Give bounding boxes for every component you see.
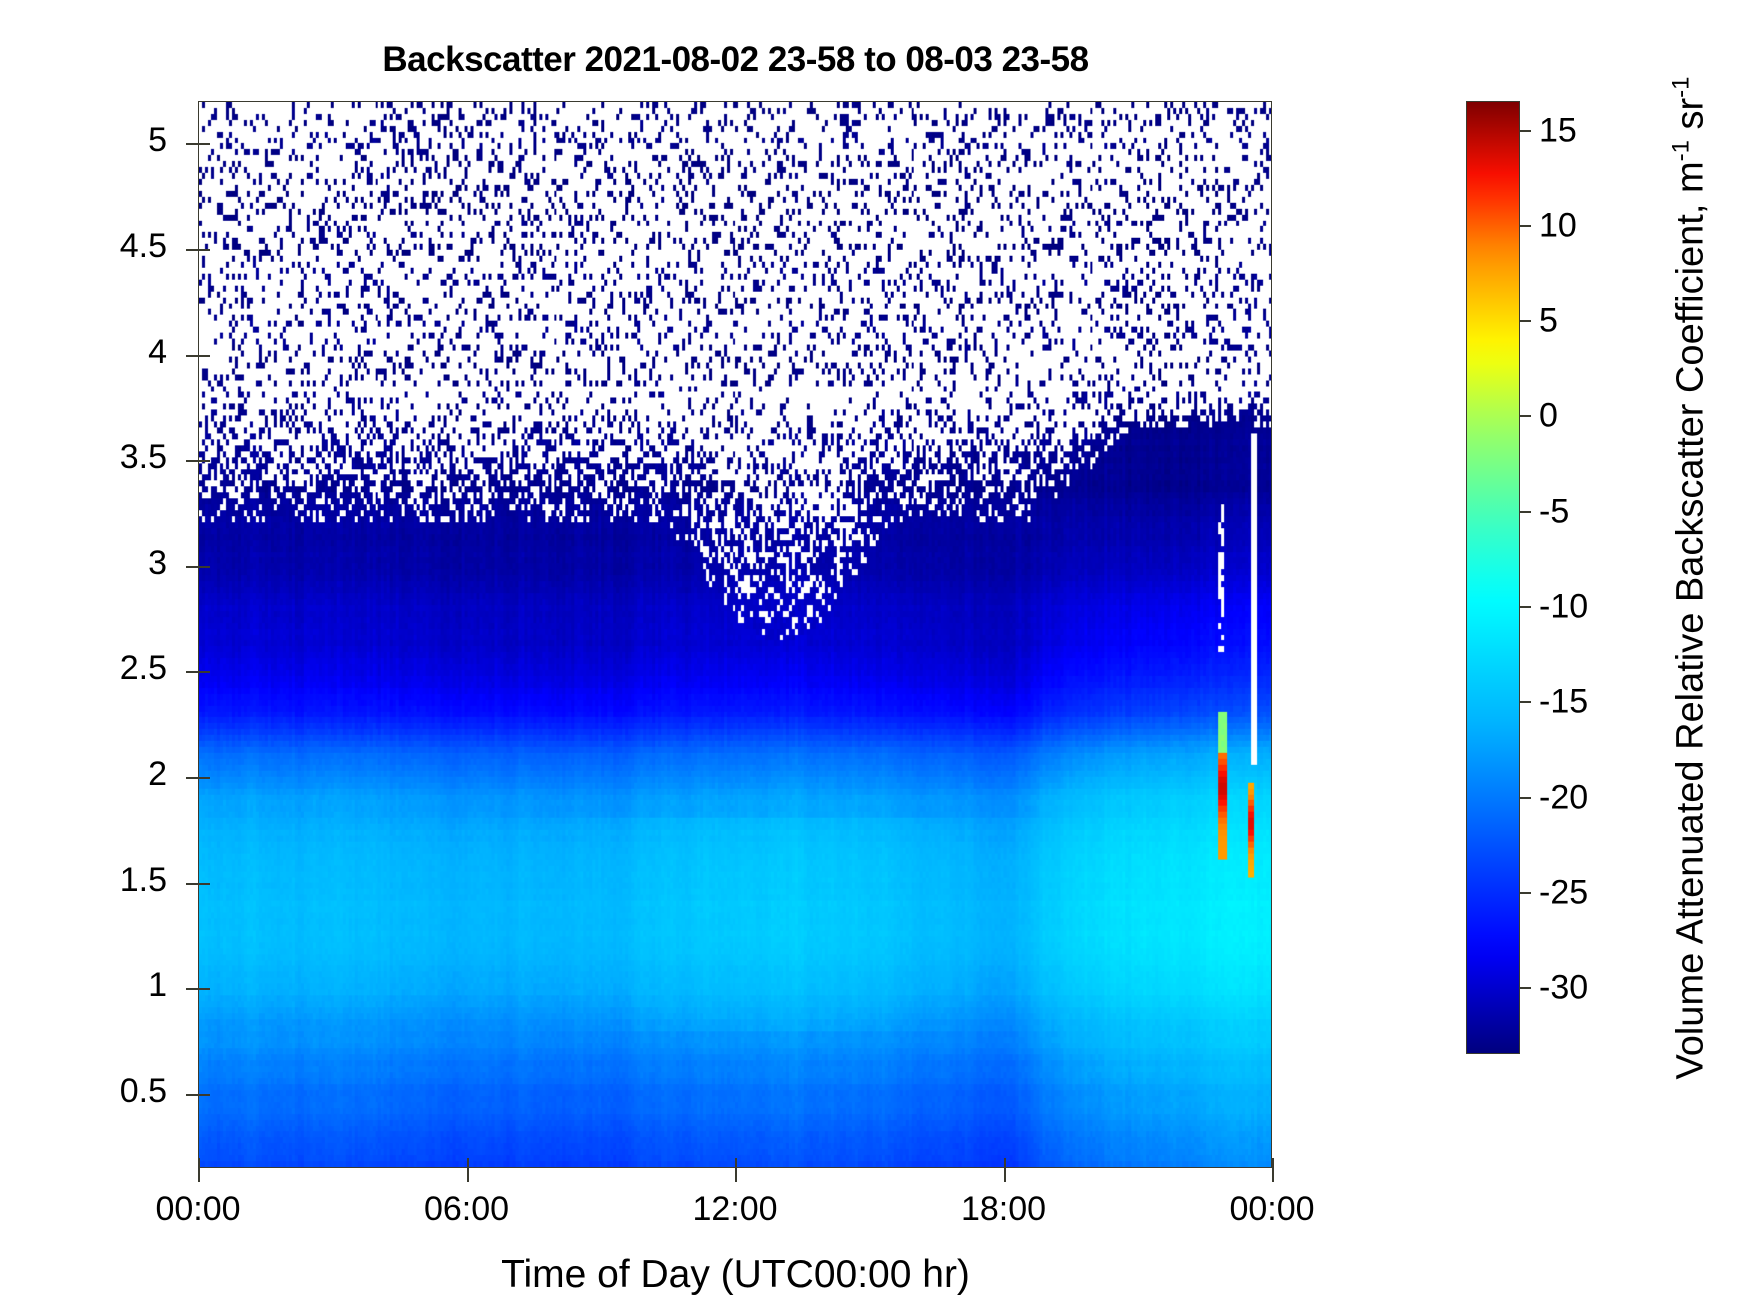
y-tick-label: 2	[0, 755, 167, 794]
colorbar-tick-label: -15	[1539, 683, 1588, 722]
colorbar-tick-label: 5	[1539, 302, 1558, 341]
y-tick-inner	[199, 988, 210, 990]
y-tick-inner	[199, 355, 210, 357]
colorbar-tick	[1519, 701, 1531, 703]
x-tick	[1272, 1169, 1274, 1182]
y-tick-label: 1	[0, 966, 167, 1005]
colorbar-tick	[1519, 797, 1531, 799]
colorbar-gradient	[1467, 102, 1519, 1053]
y-tick	[186, 988, 199, 990]
y-tick-label: 5	[0, 121, 167, 160]
y-tick-inner	[199, 566, 210, 568]
x-tick-inner	[1272, 1158, 1274, 1169]
y-tick	[186, 566, 199, 568]
y-tick	[186, 671, 199, 673]
colorbar-tick	[1519, 987, 1531, 989]
x-tick	[198, 1169, 200, 1182]
y-tick-inner	[199, 777, 210, 779]
colorbar-tick	[1519, 225, 1531, 227]
y-tick-inner	[199, 143, 210, 145]
x-tick-label: 00:00	[1229, 1190, 1314, 1229]
colorbar-tick	[1519, 320, 1531, 322]
y-tick-inner	[199, 671, 210, 673]
y-tick-inner	[199, 249, 210, 251]
colorbar-tick	[1519, 130, 1531, 132]
x-tick-label: 06:00	[424, 1190, 509, 1229]
y-tick-label: 4.5	[0, 227, 167, 266]
colorbar-tick	[1519, 606, 1531, 608]
y-tick-inner	[199, 460, 210, 462]
x-tick	[1004, 1169, 1006, 1182]
colorbar-tick-label: -30	[1539, 969, 1588, 1008]
colorbar-tick-label: 15	[1539, 111, 1577, 150]
colorbar-tick-label: -25	[1539, 873, 1588, 912]
chart-title: Backscatter 2021-08-02 23-58 to 08-03 23…	[198, 40, 1273, 80]
colorbar-title-exp1: -1	[1668, 140, 1695, 161]
y-tick	[186, 143, 199, 145]
y-tick	[186, 777, 199, 779]
y-tick-inner	[199, 1094, 210, 1096]
colorbar-tick-label: 0	[1539, 397, 1558, 436]
y-tick	[186, 1094, 199, 1096]
x-axis-title: Time of Day (UTC00:00 hr)	[198, 1253, 1273, 1297]
y-tick-label: 2.5	[0, 649, 167, 688]
y-tick	[186, 249, 199, 251]
x-tick-inner	[467, 1158, 469, 1169]
x-tick-label: 18:00	[961, 1190, 1046, 1229]
x-tick-label: 00:00	[155, 1190, 240, 1229]
colorbar-tick	[1519, 511, 1531, 513]
y-tick	[186, 355, 199, 357]
colorbar-title: Volume Attenuated Relative Backscatter C…	[1668, 76, 1713, 1079]
colorbar-tick-label: 10	[1539, 206, 1577, 245]
y-tick-label: 3	[0, 544, 167, 583]
y-tick-label: 4	[0, 333, 167, 372]
colorbar-title-main: Volume Attenuated Relative Backscatter C…	[1669, 161, 1711, 1079]
y-tick-label: 0.5	[0, 1072, 167, 1111]
colorbar-tick	[1519, 892, 1531, 894]
colorbar-tick	[1519, 415, 1531, 417]
y-tick-label: 1.5	[0, 861, 167, 900]
x-tick	[467, 1169, 469, 1182]
x-tick-inner	[198, 1158, 200, 1169]
colorbar-tick-label: -10	[1539, 588, 1588, 627]
y-tick	[186, 460, 199, 462]
heatmap-axes	[198, 101, 1272, 1168]
y-tick-label: 3.5	[0, 438, 167, 477]
x-tick-inner	[735, 1158, 737, 1169]
colorbar: 151050-5-10-15-20-25-30	[1466, 101, 1520, 1054]
colorbar-title-mid: sr	[1669, 98, 1711, 140]
x-tick-label: 12:00	[692, 1190, 777, 1229]
x-tick	[735, 1169, 737, 1182]
x-tick-inner	[1004, 1158, 1006, 1169]
colorbar-title-exp2: -1	[1668, 76, 1695, 97]
heatmap-image	[199, 102, 1271, 1167]
y-tick	[186, 883, 199, 885]
y-tick-inner	[199, 883, 210, 885]
figure-canvas: Backscatter 2021-08-02 23-58 to 08-03 23…	[0, 0, 1750, 1313]
colorbar-tick-label: -5	[1539, 492, 1569, 531]
colorbar-tick-label: -20	[1539, 778, 1588, 817]
